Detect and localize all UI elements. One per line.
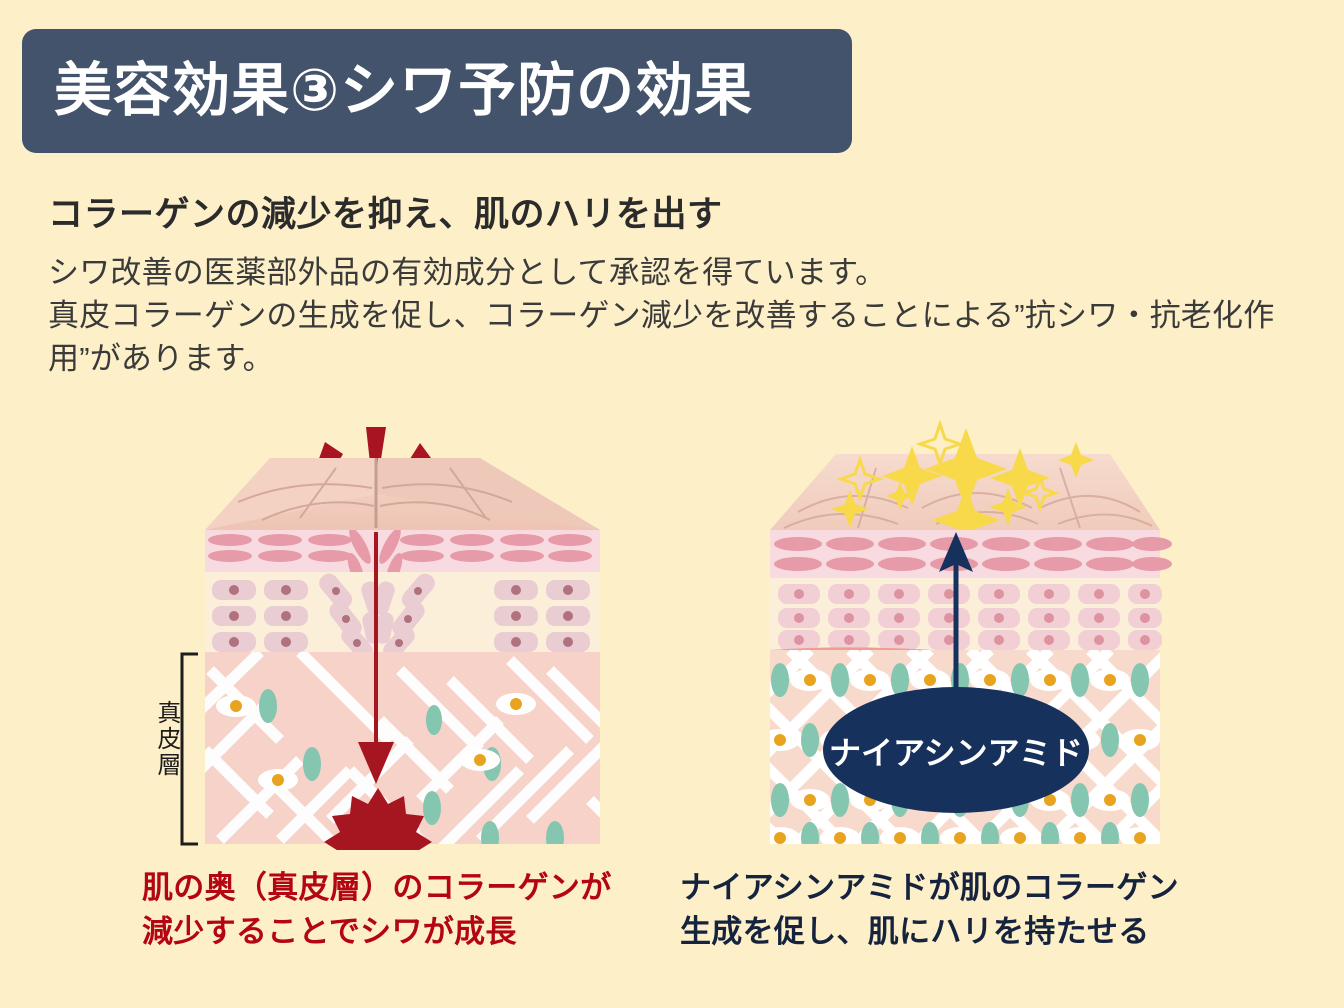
left-diagram-caption: 肌の奥（真皮層）のコラーゲンが 減少することでシワが成長 xyxy=(142,866,612,954)
niacinamide-pill-label: ナイアシンアミド xyxy=(829,735,1083,771)
epidermis-cells-healthy xyxy=(770,578,1162,650)
right-skin-diagram: ナイアシンアミド xyxy=(740,420,1180,850)
body-text: シワ改善の医薬部外品の有効成分として承認を得ています。 真皮コラーゲンの生成を促… xyxy=(48,252,1308,380)
dermis-bracket xyxy=(182,654,198,844)
title-banner: 美容効果③シワ予防の効果 xyxy=(22,29,852,153)
right-skin-svg: ナイアシンアミド xyxy=(740,420,1180,850)
niacinamide-pill: ナイアシンアミド xyxy=(823,687,1089,813)
page-title: 美容効果③シワ予防の効果 xyxy=(22,62,753,120)
lead-heading: コラーゲンの減少を抑え、肌のハリを出す xyxy=(48,196,723,235)
right-diagram-caption: ナイアシンアミドが肌のコラーゲン 生成を促し、肌にハリを持たせる xyxy=(680,866,1179,954)
body-line-1: シワ改善の医薬部外品の有効成分として承認を得ています。 xyxy=(48,252,1308,295)
skin-surface xyxy=(205,458,600,530)
slide-root: 美容効果③シワ予防の効果 コラーゲンの減少を抑え、肌のハリを出す シワ改善の医薬… xyxy=(0,0,1344,1008)
body-line-2: 真皮コラーゲンの生成を促し、コラーゲン減少を改善することによる”抗シワ・抗老化作… xyxy=(48,295,1308,381)
left-skin-diagram xyxy=(150,420,670,850)
dermis-layer-label: 真皮層 xyxy=(152,700,179,778)
left-skin-svg xyxy=(150,420,670,850)
